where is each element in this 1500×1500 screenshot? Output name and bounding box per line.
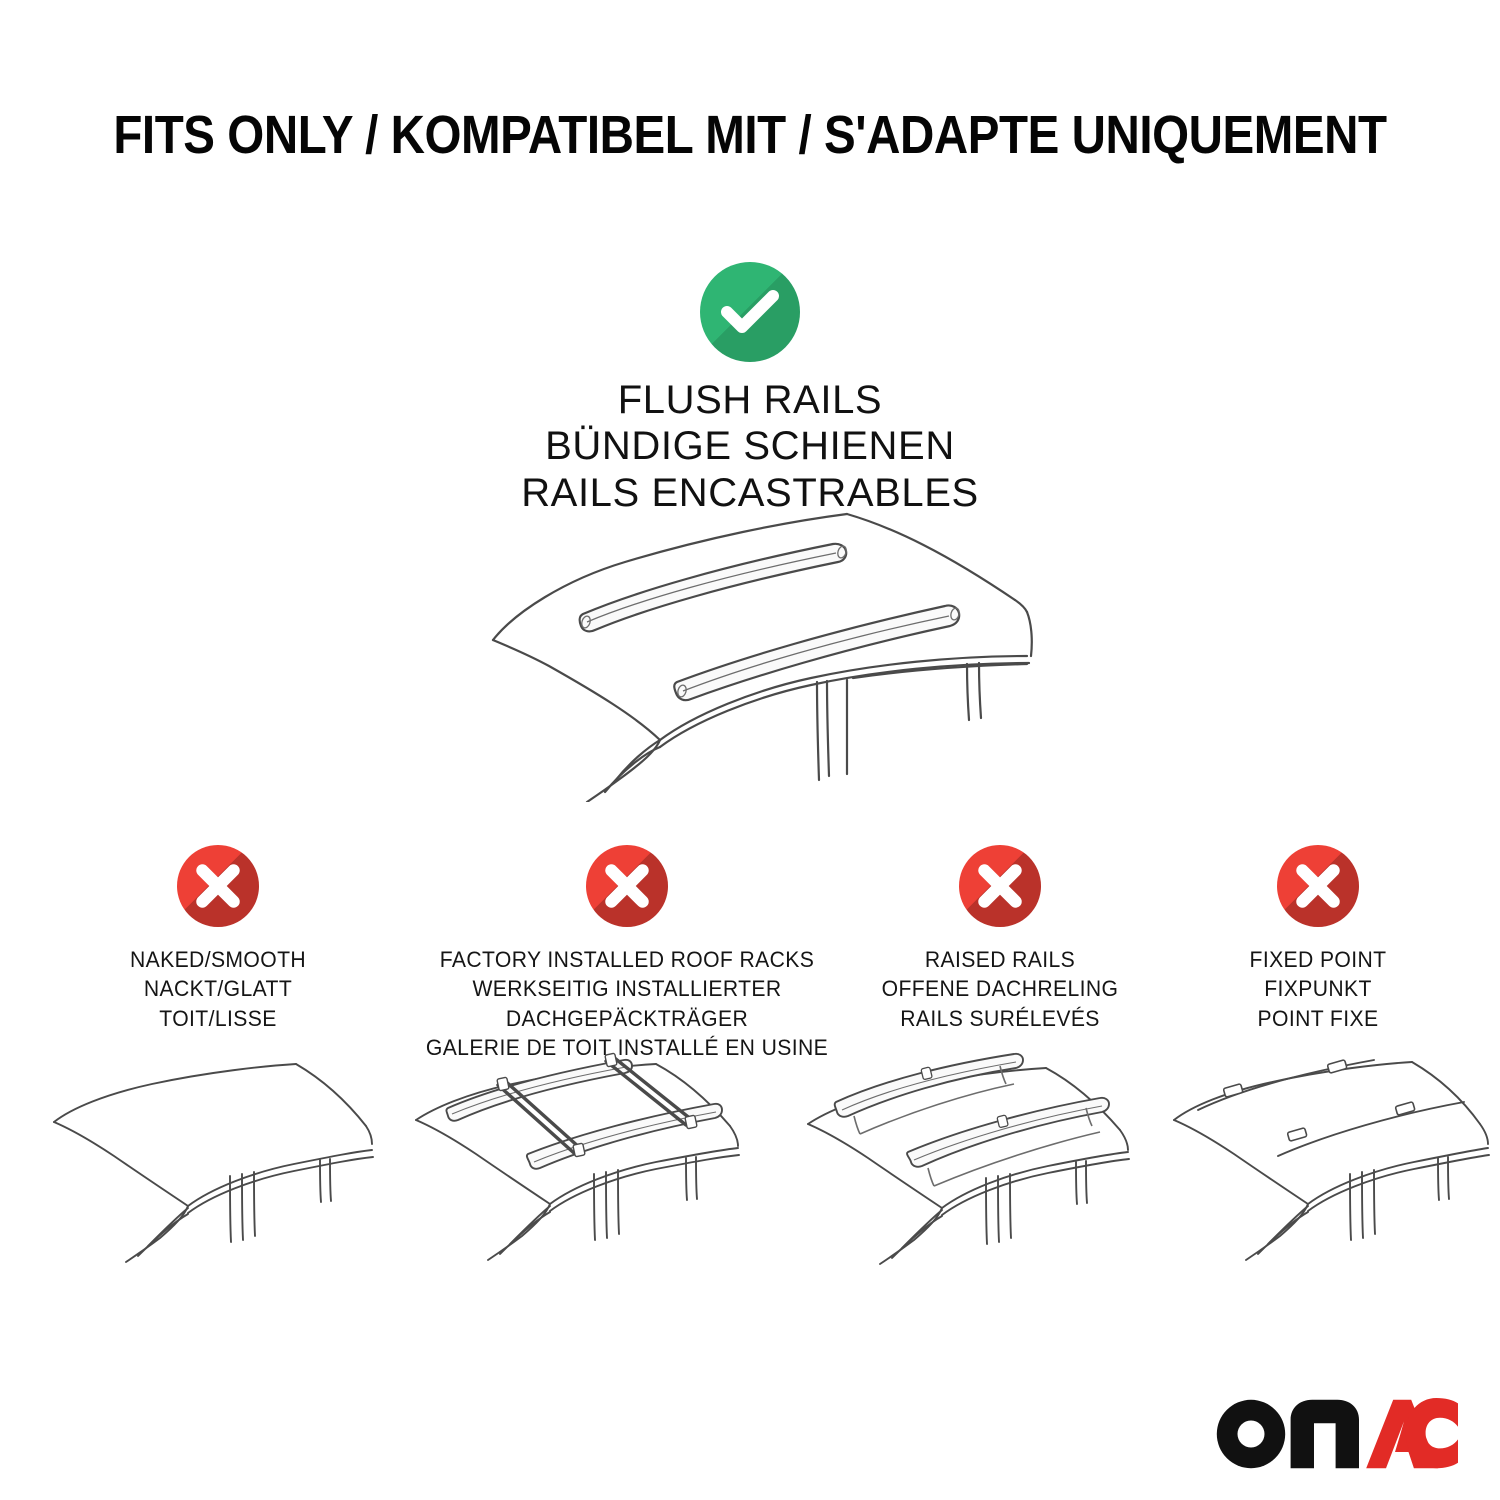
cross-icon — [586, 845, 668, 927]
cross-icon — [1277, 845, 1359, 927]
logo-letter-m — [1291, 1400, 1359, 1468]
label-line-fr: POINT FIXE — [1186, 1004, 1449, 1033]
incompatible-label-factory-roof-racks: FACTORY INSTALLED ROOF RACKS WERKSEITIG … — [407, 945, 847, 1062]
label-line-fr: RAILS SURÉLEVÉS — [850, 1004, 1151, 1033]
car-roof-fixed-point-illustration — [1168, 1050, 1498, 1300]
car-roof-raised-rails-illustration — [800, 1050, 1170, 1300]
cross-icon — [177, 845, 259, 927]
compatible-section: FLUSH RAILS BÜNDIGE SCHIENEN RAILS ENCAS… — [0, 262, 1500, 516]
logo-letter-o — [1217, 1400, 1285, 1468]
label-line-en: RAISED RAILS — [850, 945, 1151, 974]
infographic-page: FITS ONLY / KOMPATIBEL MIT / S'ADAPTE UN… — [0, 0, 1500, 1500]
incompatible-label-naked-smooth: NAKED/SMOOTH NACKT/GLATT TOIT/LISSE — [77, 945, 359, 1033]
label-line-en: FACTORY INSTALLED ROOF RACKS — [407, 945, 847, 974]
badge-wrap — [393, 845, 861, 945]
incompatible-column-naked-smooth: NAKED/SMOOTH NACKT/GLATT TOIT/LISSE — [68, 845, 368, 1033]
omac-logo — [1215, 1398, 1458, 1470]
label-line-de: FIXPUNKT — [1186, 974, 1449, 1003]
label-line-en: NAKED/SMOOTH — [77, 945, 359, 974]
cross-icon — [959, 845, 1041, 927]
badge-wrap — [68, 845, 368, 945]
incompatible-column-fixed-point: FIXED POINT FIXPUNKT POINT FIXE — [1178, 845, 1458, 1033]
incompatible-column-factory-roof-racks: FACTORY INSTALLED ROOF RACKS WERKSEITIG … — [393, 845, 861, 1062]
compatible-label-de: BÜNDIGE SCHIENEN — [0, 423, 1500, 469]
badge-wrap — [1178, 845, 1458, 945]
car-roof-factory-roof-racks-illustration — [408, 1050, 778, 1300]
label-line-de: OFFENE DACHRELING — [850, 974, 1151, 1003]
incompatible-label-fixed-point: FIXED POINT FIXPUNKT POINT FIXE — [1186, 945, 1449, 1033]
label-line-de: NACKT/GLATT — [77, 974, 359, 1003]
incompatible-column-raised-rails: RAISED RAILS OFFENE DACHRELING RAILS SUR… — [840, 845, 1160, 1033]
compatible-label-en: FLUSH RAILS — [0, 377, 1500, 423]
car-roof-flush-rails-illustration — [455, 492, 1065, 802]
label-line-fr: TOIT/LISSE — [77, 1004, 359, 1033]
label-line-de-2: DACHGEPÄCKTRÄGER — [407, 1004, 847, 1033]
page-title: FITS ONLY / KOMPATIBEL MIT / S'ADAPTE UN… — [90, 104, 1410, 166]
label-line-de-1: WERKSEITIG INSTALLIERTER — [407, 974, 847, 1003]
incompatible-label-raised-rails: RAISED RAILS OFFENE DACHRELING RAILS SUR… — [850, 945, 1151, 1033]
roof-illustration-row — [0, 1050, 1500, 1300]
badge-wrap — [840, 845, 1160, 945]
label-line-en: FIXED POINT — [1186, 945, 1449, 974]
check-icon — [700, 262, 800, 362]
car-roof-naked-smooth-illustration — [48, 1050, 398, 1300]
